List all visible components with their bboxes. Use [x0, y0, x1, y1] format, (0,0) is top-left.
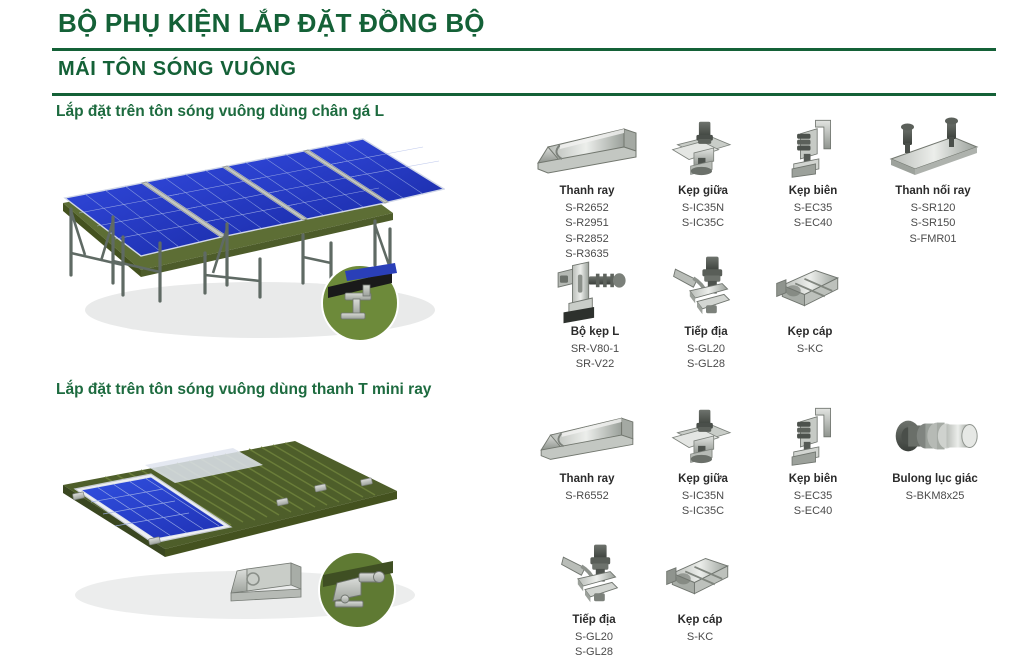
product-codes: S-SR120 S-SR150 S-FMR01 — [858, 201, 1008, 248]
subtitle-divider — [52, 93, 996, 96]
product-name: Thanh nối ray — [858, 184, 1008, 200]
product-name: Kẹp cáp — [735, 325, 885, 341]
product-codes: S-KC — [625, 630, 775, 646]
product-card-kep-cap-1[interactable]: Kẹp cáp S-KC — [735, 253, 885, 357]
product-name: Bulong lục giác — [860, 472, 1010, 488]
product-card-kep-cap-2[interactable]: Kẹp cáp S-KC — [625, 541, 775, 645]
page-subtitle: MÁI TÔN SÓNG VUÔNG — [58, 58, 297, 81]
product-codes: S-KC — [735, 342, 885, 358]
product-name: Kẹp cáp — [625, 613, 775, 629]
illustration-panels-on-trapezoid-roof — [45, 415, 445, 635]
cable-clip-icon — [735, 253, 885, 325]
section-label-mini-rail: Lắp đặt trên tôn sóng vuông dùng thanh T… — [56, 381, 431, 399]
catalog-page: BỘ PHỤ KIỆN LẮP ĐẶT ĐỒNG BỘ MÁI TÔN SÓNG… — [0, 0, 1024, 672]
section-label-l-foot: Lắp đặt trên tôn sóng vuông dùng chân gá… — [56, 103, 384, 121]
hex-bolt-icon — [860, 400, 1010, 472]
page-title: BỘ PHỤ KIỆN LẮP ĐẶT ĐỒNG BỘ — [58, 8, 485, 39]
product-card-bulong-luc-giac[interactable]: Bulong lục giác S-BKM8x25 — [860, 400, 1010, 504]
rail-splice-icon — [858, 112, 1008, 184]
illustration-solar-array-on-steel-frame — [45, 125, 445, 345]
product-card-thanh-noi-ray-1[interactable]: Thanh nối ray S-SR120 S-SR150 S-FMR01 — [858, 112, 1008, 247]
product-codes: S-BKM8x25 — [860, 489, 1010, 505]
cable-clip-icon — [625, 541, 775, 613]
title-divider — [52, 48, 996, 51]
